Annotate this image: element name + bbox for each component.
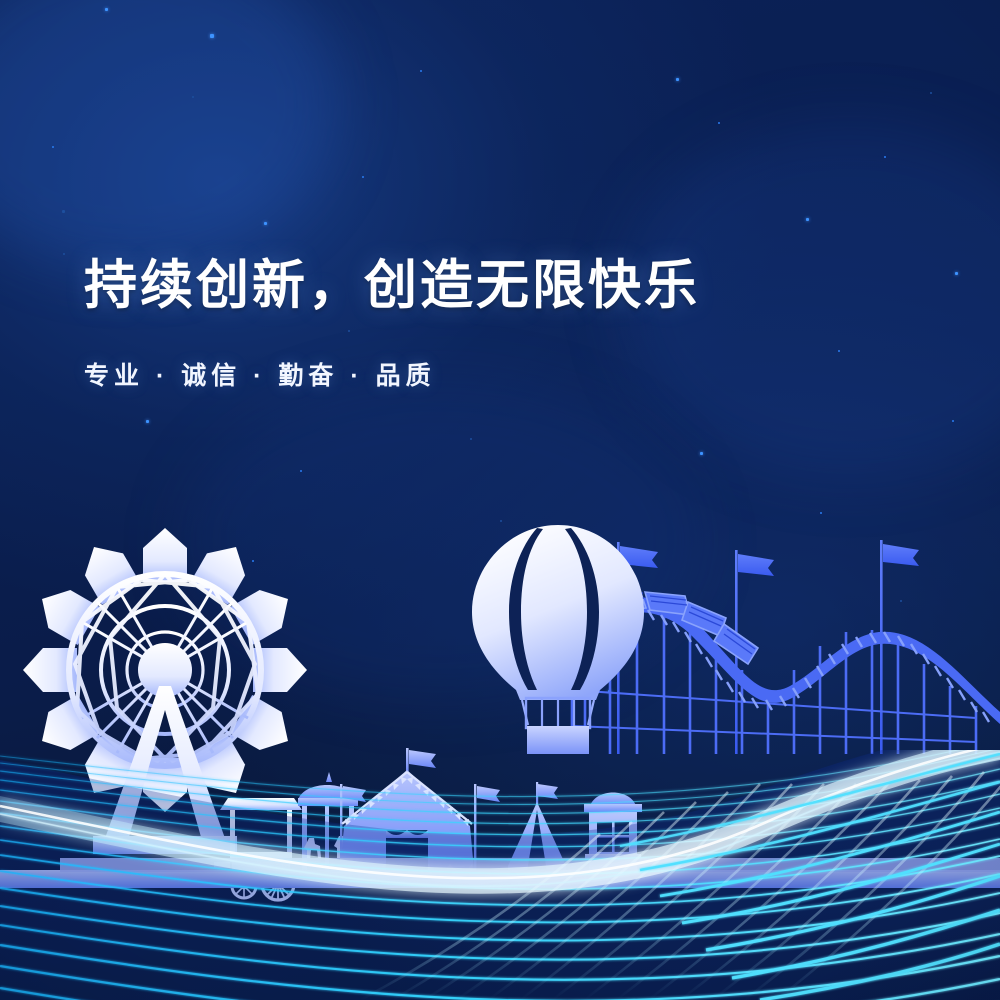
page-title: 持续创新，创造无限快乐 [84,255,904,318]
page-subtitle: 专业 · 诚信 · 勤奋 · 品质 [84,356,904,392]
glowing-wave-graphic [0,750,1000,1000]
hero-copy: 持续创新，创造无限快乐 专业 · 诚信 · 勤奋 · 品质 [84,255,904,392]
banner-canvas: 持续创新，创造无限快乐 专业 · 诚信 · 勤奋 · 品质 [0,0,1000,1000]
